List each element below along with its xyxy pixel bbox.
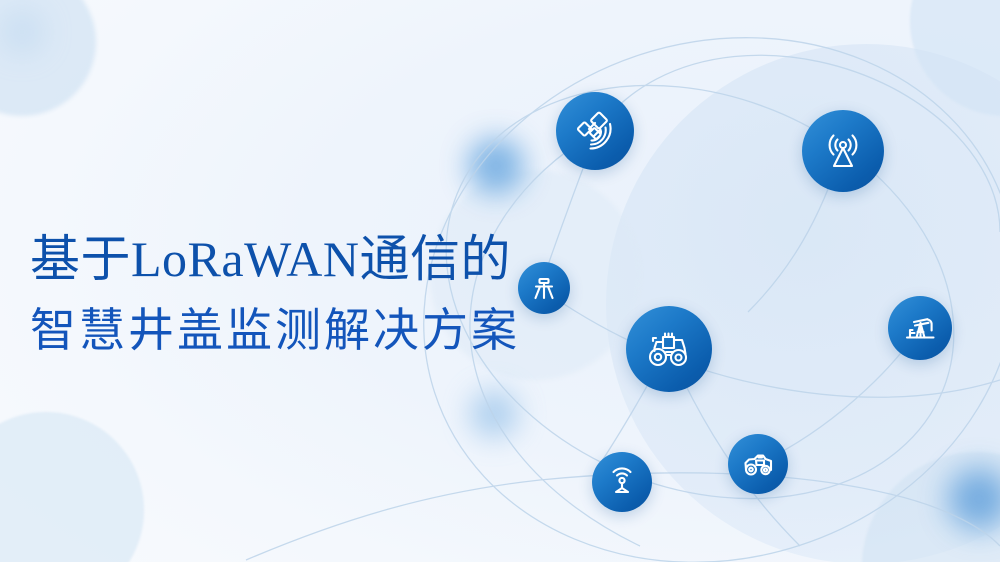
oil-pumpjack-icon [902, 310, 938, 346]
slide-title-line-2: 智慧井盖监测解决方案 [30, 298, 590, 362]
node-tractor[interactable] [626, 306, 712, 392]
satellite-signal-icon [573, 109, 617, 153]
node-satellite[interactable] [556, 92, 634, 170]
slide-title-line-1: 基于LoRaWAN通信的 [30, 228, 590, 290]
node-sensor[interactable] [592, 452, 652, 512]
sensor-node-icon [605, 465, 639, 499]
node-oil-pumpjack[interactable] [888, 296, 952, 360]
cover-slide: 基于LoRaWAN通信的 智慧井盖监测解决方案 [0, 0, 1000, 562]
radio-tower-icon [820, 128, 866, 174]
title-block: 基于LoRaWAN通信的 智慧井盖监测解决方案 [30, 228, 590, 362]
harvester-vehicle-icon [740, 446, 776, 482]
node-radio-tower[interactable] [802, 110, 884, 192]
node-vehicle[interactable] [728, 434, 788, 494]
tractor-icon [644, 324, 694, 374]
